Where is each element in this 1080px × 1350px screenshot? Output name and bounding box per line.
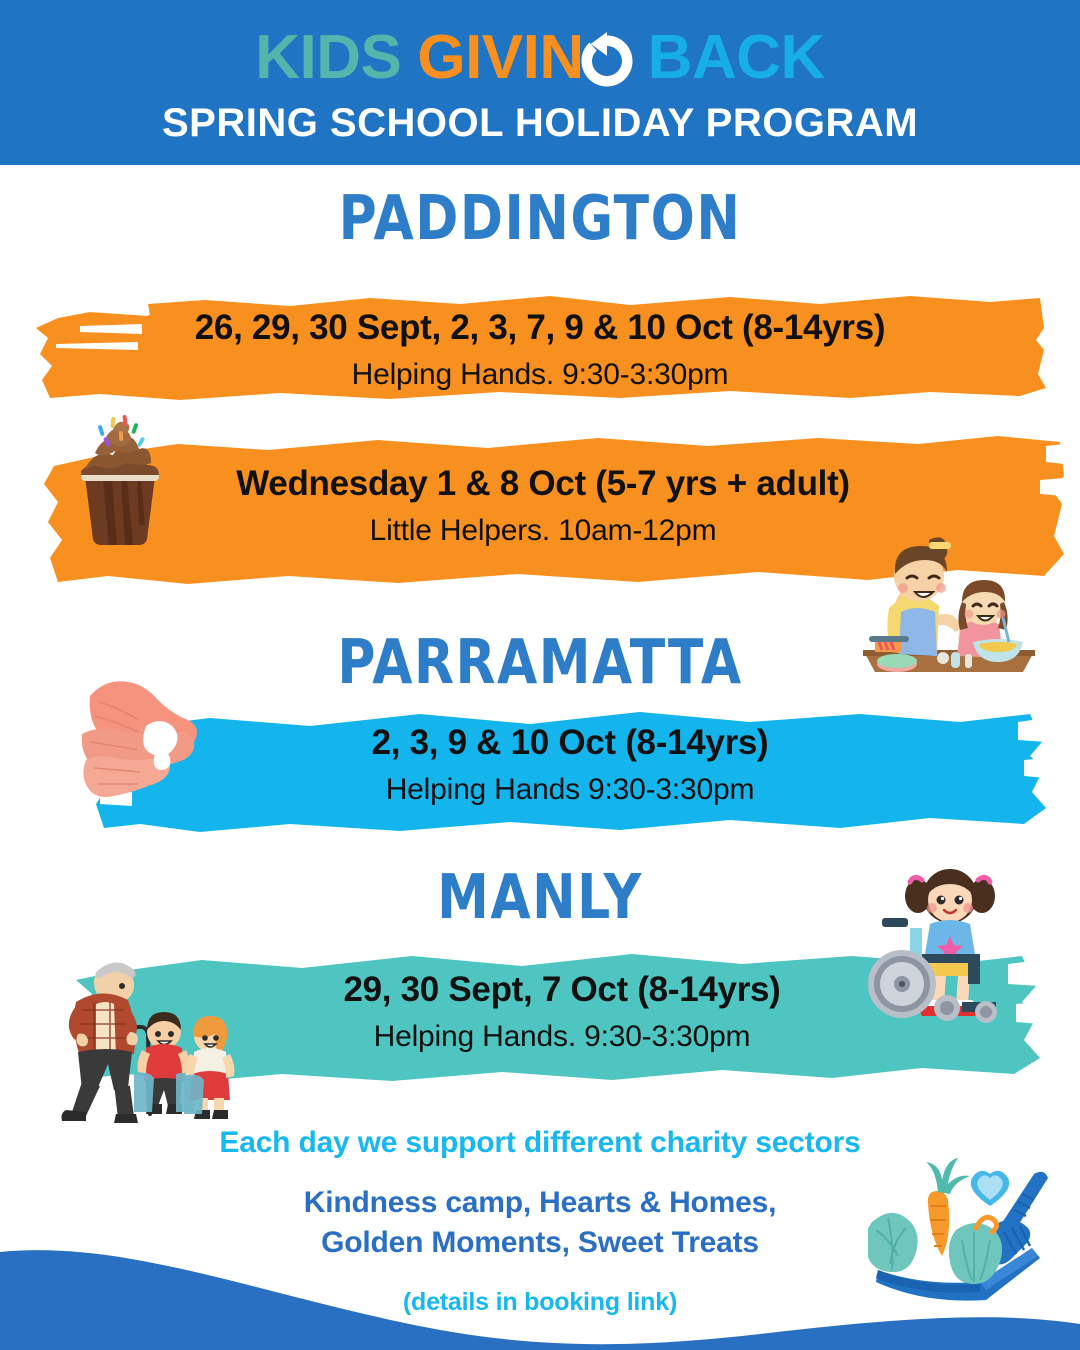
location-heading-paddington: PADDINGTON bbox=[0, 188, 1080, 249]
brand-logo: KIDS GIVIN BACK bbox=[255, 27, 825, 89]
footer-text-block: Each day we support different charity se… bbox=[0, 1125, 1080, 1317]
session-dates: 26, 29, 30 Sept, 2, 3, 7, 9 & 10 Oct (8-… bbox=[30, 310, 1050, 347]
session-band-paddington-1: 26, 29, 30 Sept, 2, 3, 7, 9 & 10 Oct (8-… bbox=[30, 288, 1050, 408]
logo-word-kids: KIDS bbox=[255, 27, 401, 89]
poster-canvas: KIDS GIVIN BACK SPRING SCHOOL HOLIDAY PR… bbox=[0, 0, 1080, 1350]
logo-word-back: BACK bbox=[648, 27, 825, 89]
hands-washing-icon bbox=[72, 668, 232, 833]
footer-booking-note: (details in booking link) bbox=[0, 1288, 1080, 1317]
logo-word-givin: GIVIN bbox=[417, 27, 583, 89]
elderly-man-with-children-icon bbox=[38, 948, 243, 1123]
footer-charity-list: Kindness camp, Hearts & Homes, Golden Mo… bbox=[0, 1183, 1080, 1262]
session-text-paddington-1: 26, 29, 30 Sept, 2, 3, 7, 9 & 10 Oct (8-… bbox=[30, 310, 1050, 390]
footer-lead-text: Each day we support different charity se… bbox=[0, 1125, 1080, 1161]
cupcake-icon bbox=[55, 405, 185, 545]
circular-arrow-logo-icon bbox=[578, 32, 636, 90]
session-detail: Helping Hands. 9:30-3:30pm bbox=[30, 359, 1050, 391]
poster-subtitle: SPRING SCHOOL HOLIDAY PROGRAM bbox=[162, 103, 918, 143]
footer-charity-line-2: Golden Moments, Sweet Treats bbox=[0, 1223, 1080, 1263]
footer-charity-line-1: Kindness camp, Hearts & Homes, bbox=[0, 1183, 1080, 1223]
girl-in-wheelchair-icon bbox=[862, 862, 1037, 1027]
poster-header: KIDS GIVIN BACK SPRING SCHOOL HOLIDAY PR… bbox=[0, 0, 1080, 165]
mother-and-child-baking-icon bbox=[845, 500, 1045, 685]
